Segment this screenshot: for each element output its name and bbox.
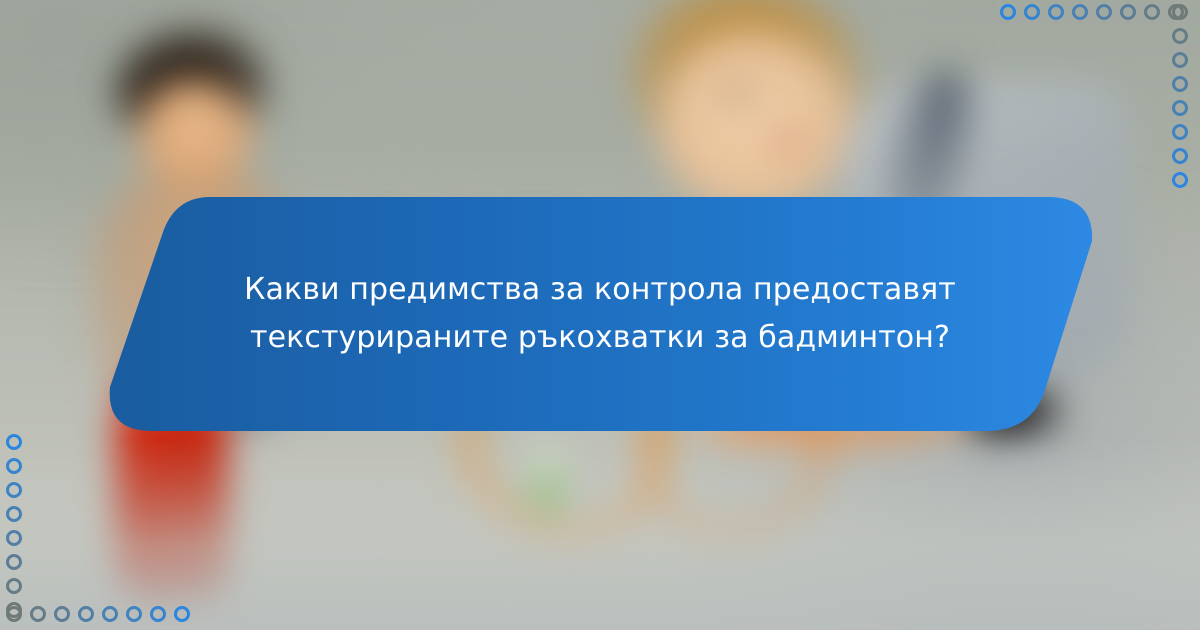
decor-dot: [1172, 52, 1188, 68]
decor-dot: [1072, 4, 1088, 20]
headline-text-block: Какви предимства за контрола предоставят…: [100, 195, 1100, 433]
headline-banner: Какви предимства за контрола предоставят…: [100, 195, 1100, 433]
decor-dot: [6, 434, 22, 450]
decor-dot: [1096, 4, 1112, 20]
decor-dot: [1172, 100, 1188, 116]
decor-dots-right-column: [1172, 4, 1196, 204]
decor-dot: [1172, 172, 1188, 188]
decor-dots-top-right-row: [1000, 4, 1200, 28]
decor-dot: [1120, 4, 1136, 20]
decor-dot: [6, 506, 22, 522]
decor-dot: [1024, 4, 1040, 20]
decor-dot: [78, 606, 94, 622]
floor-haze: [0, 440, 1200, 630]
decor-dot: [1144, 4, 1160, 20]
right-child-face: [658, 32, 854, 214]
decor-dot: [1172, 28, 1188, 44]
decor-dot: [150, 606, 166, 622]
decor-dot: [102, 606, 118, 622]
decor-dot: [1172, 4, 1188, 20]
decor-dot: [6, 458, 22, 474]
decor-dot: [174, 606, 190, 622]
decor-dot: [1172, 76, 1188, 92]
decor-dot: [30, 606, 46, 622]
decor-dots-bottom-row: [6, 606, 206, 630]
decor-dot: [126, 606, 142, 622]
decor-dot: [6, 578, 22, 594]
decor-dot: [54, 606, 70, 622]
decor-dot: [1172, 148, 1188, 164]
decor-dot: [1172, 124, 1188, 140]
decor-dot: [1000, 4, 1016, 20]
decor-dot: [6, 554, 22, 570]
decor-dot: [1048, 4, 1064, 20]
right-child-mouth: [760, 130, 814, 154]
decor-dots-left-column: [6, 434, 30, 630]
right-child-eye: [722, 82, 756, 108]
decor-dot: [6, 530, 22, 546]
headline-line-1: Какви предимства за контрола предоставят: [244, 271, 956, 309]
headline-line-2: текстурираните ръкохватки за бадминтон?: [250, 319, 950, 357]
decor-dot: [6, 606, 22, 622]
decor-dot: [6, 482, 22, 498]
